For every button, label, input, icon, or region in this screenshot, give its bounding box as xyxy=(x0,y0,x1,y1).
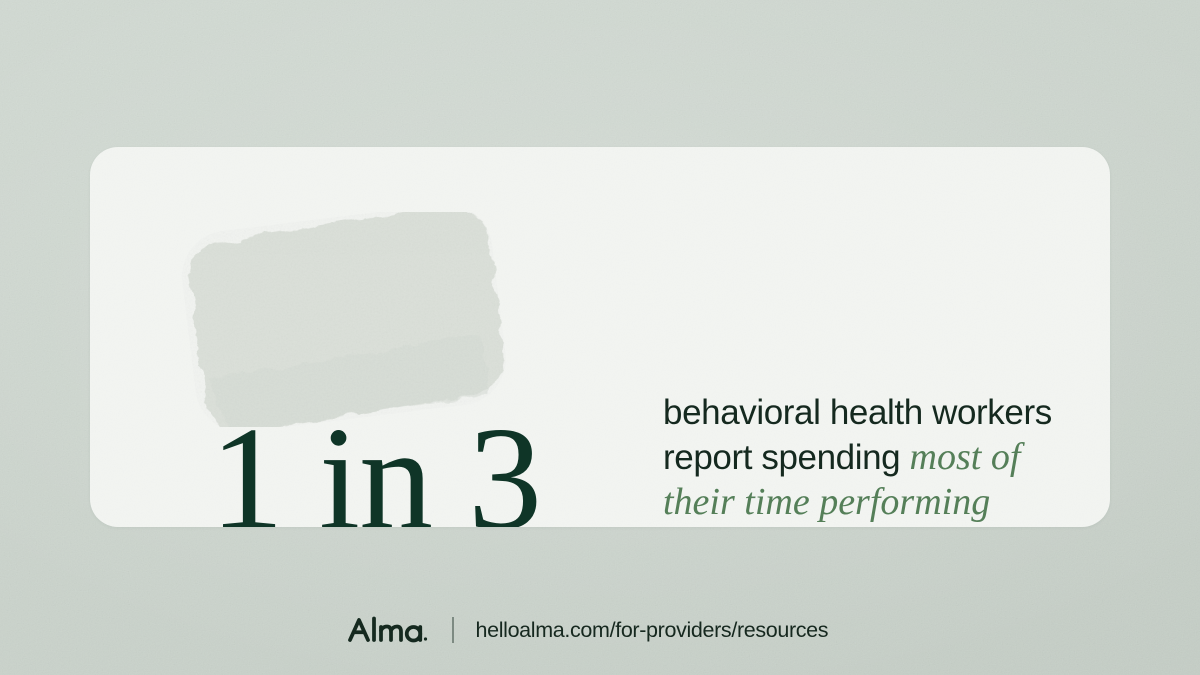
headline-line-1: behavioral health workers xyxy=(663,390,1110,435)
headline-line-2-text: report spending xyxy=(663,438,910,477)
footer-url[interactable]: helloalma.com/for-providers/resources xyxy=(476,618,829,643)
headline-line-2: report spending most of xyxy=(663,435,1110,480)
brushstroke-highlight xyxy=(178,212,508,427)
footer-divider xyxy=(452,617,454,643)
headline-line-4: administrative tasks xyxy=(663,525,1110,527)
headline-line-3-emphasis: their time performing xyxy=(663,481,990,523)
alma-logo xyxy=(348,615,428,645)
footer: helloalma.com/for-providers/resources xyxy=(348,613,828,647)
headline-line-2-emphasis: most of xyxy=(910,436,1021,478)
headline-line-4-emphasis: administrative tasks xyxy=(663,526,968,527)
headline-line-1-text: behavioral health workers xyxy=(663,393,1052,432)
headline-block: behavioral health workers report spendin… xyxy=(663,390,1110,527)
stat-value: 1 in 3 xyxy=(210,405,541,527)
stat-card: 1 in 3 behavioral health workers report … xyxy=(90,147,1110,527)
headline-line-3: their time performing xyxy=(663,480,1110,525)
infographic-canvas: 1 in 3 behavioral health workers report … xyxy=(0,0,1200,675)
